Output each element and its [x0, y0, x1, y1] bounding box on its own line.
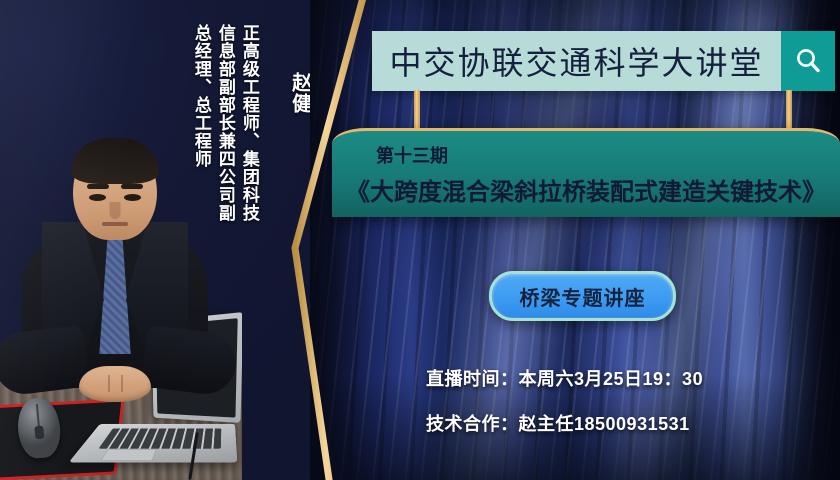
- topic-badge[interactable]: 桥梁专题讲座: [489, 271, 676, 321]
- speaker-credential-line-2: 信息部副部长兼四公司副: [216, 24, 234, 222]
- lecture-title: 《大跨度混合梁斜拉桥装配式建造关键技术》: [332, 172, 840, 207]
- speaker-name: 赵健: [288, 72, 310, 114]
- laptop-trackpad: [100, 449, 157, 460]
- arm-left: [0, 325, 89, 398]
- suit-jacket: [22, 218, 208, 388]
- broadcast-time-line: 直播时间：本周六3月25日19：30: [426, 365, 703, 391]
- banner-post-right: [786, 90, 792, 132]
- speaker-credential-line-1: 正高级工程师、集团科技: [240, 24, 258, 222]
- subtitle-panel: 第十三期 《大跨度混合梁斜拉桥装配式建造关键技术》: [332, 128, 840, 217]
- lecture-poster: 正高级工程师、集团科技 信息部副部长兼四公司副 总经理、总工程师 赵健 中交协联…: [0, 0, 840, 480]
- eyebrow-left: [87, 184, 109, 189]
- speaker-figure: [20, 132, 210, 388]
- contact-line: 技术合作：赵主任18500931531: [426, 410, 690, 436]
- speaker-photo: [0, 132, 242, 480]
- search-icon: [793, 46, 823, 76]
- speaker-credential-line-3: 总经理、总工程师: [192, 24, 210, 168]
- issue-number: 第十三期: [376, 142, 840, 168]
- face: [73, 138, 157, 240]
- laptop-base: [69, 424, 238, 463]
- topic-badge-label: 桥梁专题讲座: [520, 282, 646, 311]
- clasped-hands: [79, 366, 151, 402]
- title-bar: 中交协联交通科学大讲堂: [372, 31, 781, 91]
- hair: [71, 138, 159, 184]
- laptop-keyboard: [98, 428, 221, 449]
- eye-left: [89, 194, 106, 201]
- page-title: 中交协联交通科学大讲堂: [389, 38, 763, 84]
- mouth: [102, 222, 128, 226]
- banner-post-left: [414, 90, 420, 132]
- nose: [110, 202, 121, 219]
- eyebrow-right: [121, 184, 143, 189]
- speaker-panel: 正高级工程师、集团科技 信息部副部长兼四公司副 总经理、总工程师 赵健: [0, 0, 310, 480]
- eye-right: [124, 194, 141, 201]
- title-banner: 中交协联交通科学大讲堂: [372, 31, 835, 91]
- search-button[interactable]: [781, 31, 835, 91]
